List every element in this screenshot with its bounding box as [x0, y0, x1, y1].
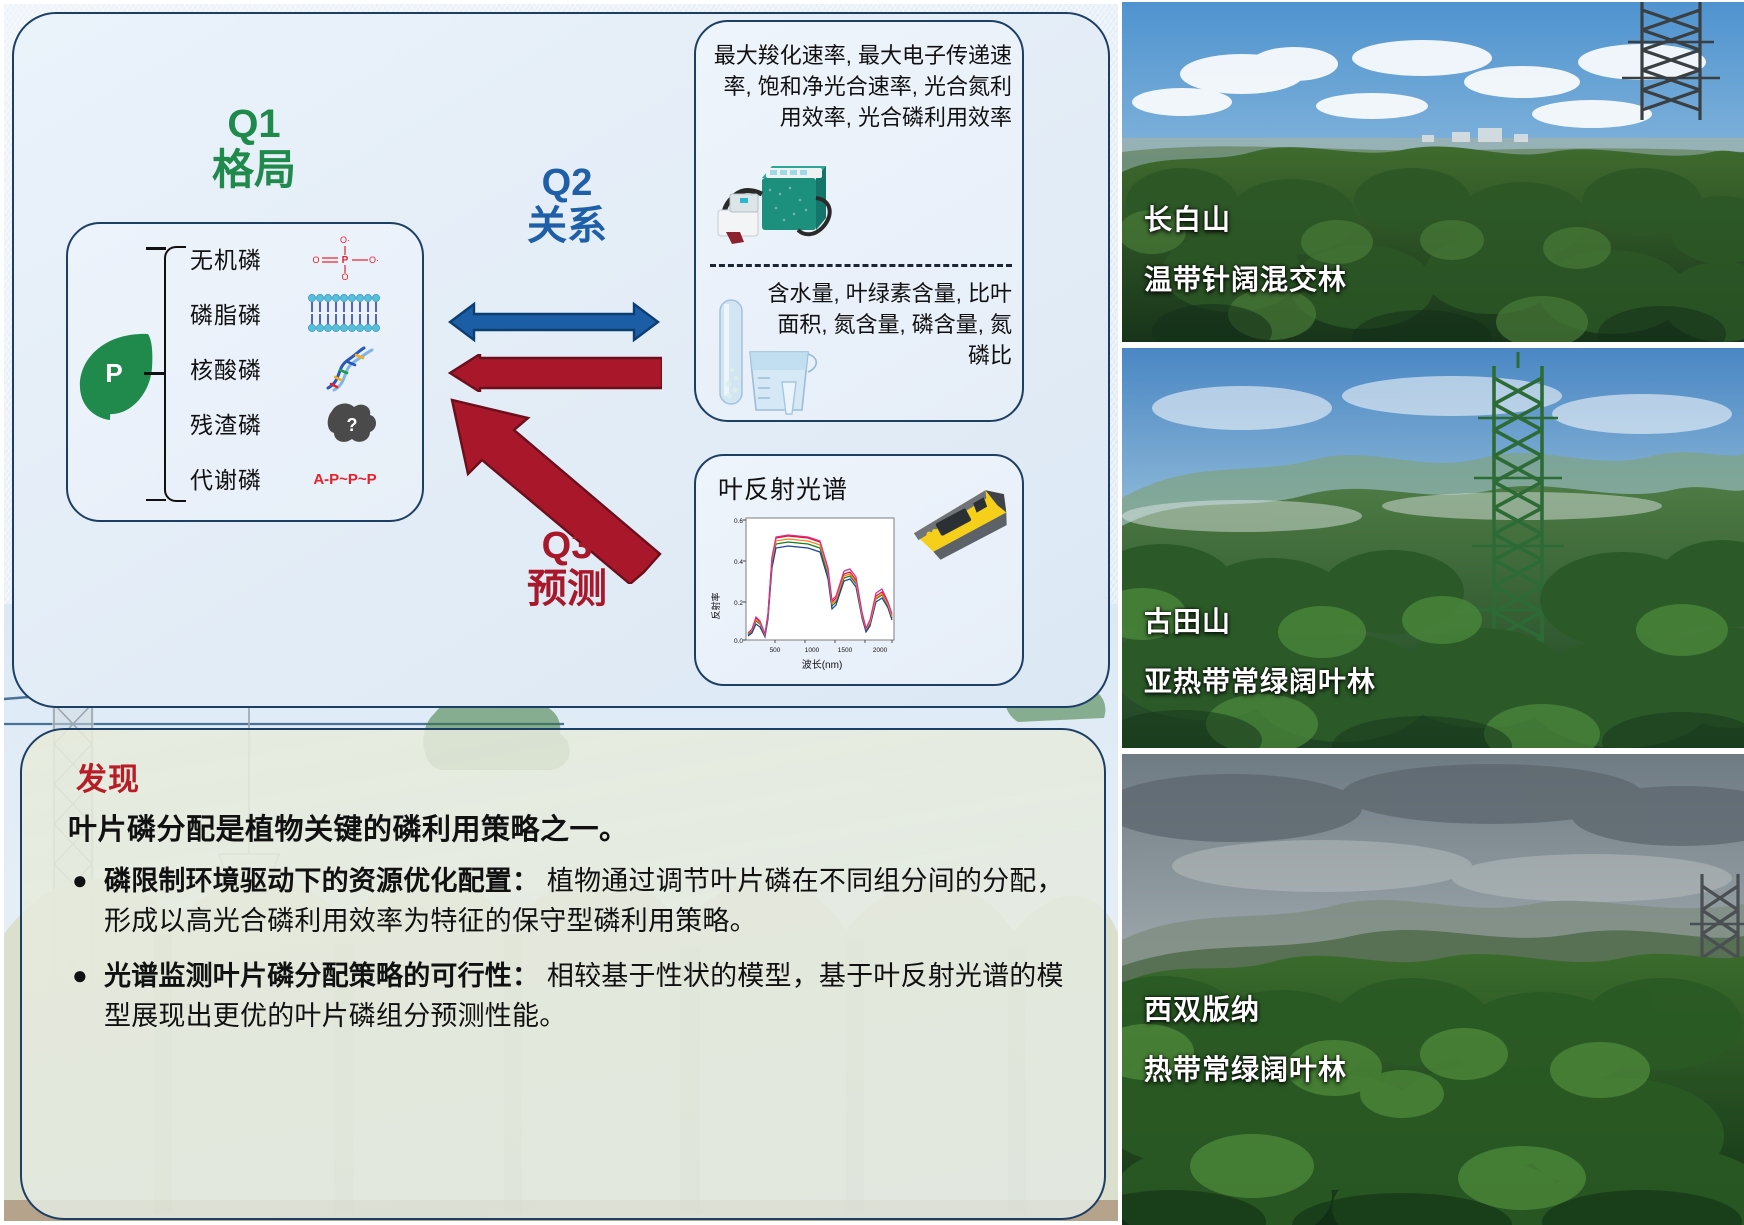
fraction-brace-stem — [144, 372, 166, 375]
list-item: ● 磷限制环境驱动下的资源优化配置： 植物通过调节叶片磷在不同组分间的分配，形成… — [68, 862, 1078, 941]
fraction-label: 无机磷 — [190, 241, 302, 275]
leaf-p-icon: P — [74, 328, 158, 424]
leftward-arrow-icon — [446, 354, 662, 392]
site-photo-gutianshan: 古田山 亚热带常绿阔叶林 — [1122, 348, 1744, 748]
leaf-traits-box: 最大羧化速率, 最大电子传递速率, 饱和净光合速率, 光合氮利用效率, 光合磷利… — [694, 20, 1024, 422]
bullet-content: 光谱监测叶片磷分配策略的可行性： 相较基于性状的模型，基于叶反射光谱的模型展现出… — [104, 957, 1078, 1036]
bullet-heading: 光谱监测叶片磷分配策略的可行性： — [104, 961, 539, 991]
findings-bullet-list: ● 磷限制环境驱动下的资源优化配置： 植物通过调节叶片磷在不同组分间的分配，形成… — [68, 862, 1078, 1053]
phosphate-molecule-icon: O· O P O· O — [302, 234, 388, 282]
main-panel: Q1 格局 P 无机磷 O· O — [4, 4, 1118, 1221]
residual-question-blob-icon: ? — [302, 399, 388, 447]
fraction-label: 残渣磷 — [190, 406, 302, 440]
reflectance-spectrum-chart: 反射率 0.6 0.4 0.2 0.0 — [710, 510, 900, 678]
site-photo-column: 长白山 温带针阔混交林 — [1122, 0, 1744, 1225]
graphical-abstract: Q1 格局 P 无机磷 O· O — [0, 0, 1744, 1225]
site-name: 长白山 — [1144, 198, 1231, 238]
findings-title: 发现 — [76, 754, 140, 799]
question-1-heading: Q1 格局 — [144, 104, 364, 191]
q2-tag: Q2 — [542, 162, 593, 204]
leaf-reflectance-spectra-box: 叶反射光谱 反射率 0.6 0.4 0.2 0.0 — [694, 454, 1024, 686]
atp-formula-icon: A-P~P~P — [302, 454, 388, 502]
structural-traits-text: 含水量, 叶绿素含量, 比叶面积, 氮含量, 磷含量, 氮磷比 — [766, 278, 1012, 372]
spectrum-xtick-0: 500 — [770, 647, 781, 654]
licor-photosynthesis-system-icon — [710, 150, 840, 250]
leaf-phosphorus-fraction-box: P 无机磷 O· O P O· O — [66, 222, 424, 522]
trait-divider — [710, 264, 1012, 267]
spectrum-xtick-3: 2000 — [873, 647, 888, 654]
fraction-label: 磷脂磷 — [190, 296, 302, 330]
fraction-label: 核酸磷 — [190, 351, 302, 385]
findings-lead: 叶片磷分配是植物关键的磷利用策略之一。 — [68, 806, 1068, 848]
residual-question-mark: ? — [347, 415, 358, 435]
site-name: 古田山 — [1144, 600, 1231, 640]
dna-helix-icon — [302, 344, 388, 392]
phosphate-bottom-label: O — [341, 272, 348, 282]
site-name: 西双版纳 — [1144, 988, 1260, 1028]
bullet-marker: ● — [68, 957, 104, 1036]
question-2-heading: Q2 关系 — [472, 164, 662, 247]
list-item: 无机磷 O· O P O· O — [190, 232, 420, 284]
phosphate-right-label: O· — [369, 255, 379, 265]
site-photo-xishuangbanna: 西双版纳 热带常绿阔叶林 — [1122, 754, 1744, 1225]
leaf-p-symbol: P — [105, 358, 122, 388]
spectrum-xtick-1: 1000 — [805, 647, 820, 654]
list-item: 磷脂磷 — [190, 287, 420, 339]
q1-tag: Q1 — [227, 102, 280, 146]
list-item: 残渣磷 ? — [190, 397, 420, 449]
bidirectional-arrow-icon — [446, 300, 662, 344]
question-3-heading: Q3 预测 — [472, 527, 662, 610]
bullet-marker: ● — [68, 862, 104, 941]
site-forest-type: 热带常绿阔叶林 — [1144, 1048, 1347, 1088]
handheld-spectroradiometer-icon — [904, 482, 1022, 568]
phosphate-left-label: O — [312, 255, 319, 265]
spectrum-ytick-1: 0.2 — [734, 600, 743, 607]
list-item: 核酸磷 — [190, 342, 420, 394]
spectrum-xtick-2: 1500 — [838, 647, 853, 654]
site-photo-changbaishan: 长白山 温带针阔混交林 — [1122, 2, 1744, 342]
phospholipid-bilayer-icon — [302, 289, 388, 337]
q2-label: 关系 — [472, 206, 662, 248]
findings-card: 发现 叶片磷分配是植物关键的磷利用策略之一。 ● 磷限制环境驱动下的资源优化配置… — [20, 728, 1106, 1220]
phosphate-center-label: P — [342, 255, 349, 266]
spectrum-ytick-2: 0.4 — [734, 559, 743, 566]
atp-formula-text: A-P~P~P — [313, 471, 376, 488]
site-forest-type: 温带针阔混交林 — [1144, 258, 1347, 298]
fraction-label: 代谢磷 — [190, 461, 302, 495]
q3-label: 预测 — [472, 569, 662, 611]
list-item: ● 光谱监测叶片磷分配策略的可行性： 相较基于性状的模型，基于叶反射光谱的模型展… — [68, 957, 1078, 1036]
q3-tag: Q3 — [542, 525, 593, 567]
photosynthetic-traits-text: 最大羧化速率, 最大电子传递速率, 饱和净光合速率, 光合氮利用效率, 光合磷利… — [710, 40, 1012, 134]
spectrum-ytick-3: 0.6 — [734, 518, 743, 525]
fraction-brace — [164, 246, 186, 502]
list-item: 代谢磷 A-P~P~P — [190, 452, 420, 504]
fraction-list: 无机磷 O· O P O· O — [190, 232, 420, 507]
bullet-heading: 磷限制环境驱动下的资源优化配置： — [104, 866, 539, 896]
site-forest-type: 亚热带常绿阔叶林 — [1144, 660, 1376, 700]
spectrum-ytick-0: 0.0 — [734, 638, 743, 645]
phosphate-top-label: O· — [340, 235, 350, 245]
spectra-title: 叶反射光谱 — [718, 470, 848, 506]
spectrum-x-axis-label: 波长(nm) — [802, 658, 843, 671]
spectrum-y-axis-label: 反射率 — [710, 592, 721, 619]
q1-label: 格局 — [144, 148, 364, 192]
bullet-content: 磷限制环境驱动下的资源优化配置： 植物通过调节叶片磷在不同组分间的分配，形成以高… — [104, 862, 1078, 941]
